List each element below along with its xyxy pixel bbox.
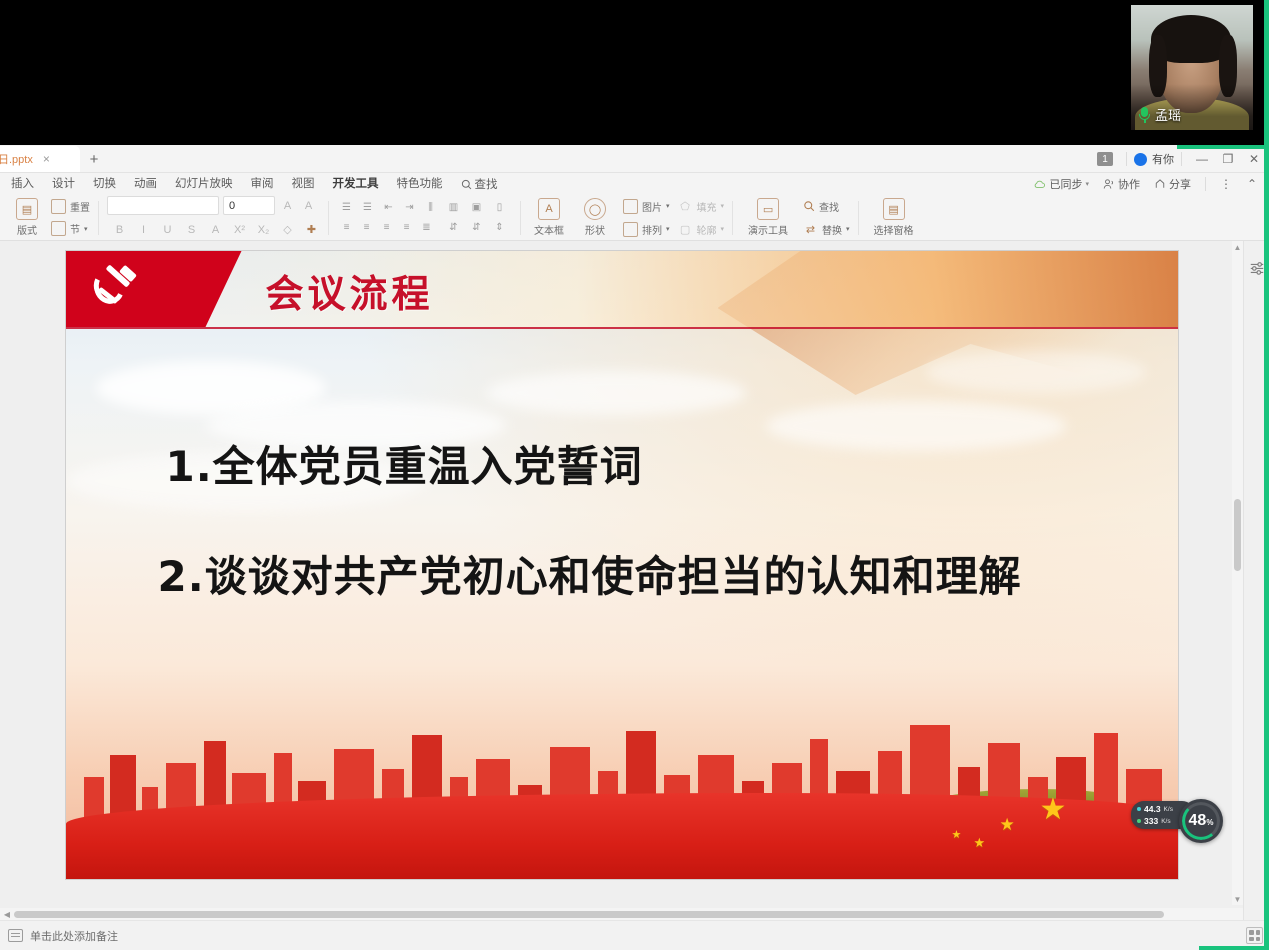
divider [732, 201, 733, 235]
section-icon [51, 221, 66, 236]
fill-button[interactable]: ⬠ 填充 ▾ [678, 196, 725, 216]
star-icon: ★ [1040, 792, 1067, 827]
layout-button[interactable]: ▤ 版式 [7, 198, 47, 237]
slide-bullet-2[interactable]: 2.谈谈对共产党初心和使命担当的认知和理解 [158, 543, 1022, 604]
divider [858, 201, 859, 235]
window-controls-group: 1 有你 — ❐ ✕ [1097, 146, 1269, 172]
notes-placeholder[interactable]: 单击此处添加备注 [30, 928, 118, 944]
menu-tab-animation[interactable]: 动画 [125, 173, 166, 195]
select-pane-icon: ▤ [883, 198, 905, 220]
divider [1205, 177, 1206, 191]
slide-canvas-area[interactable]: 会议流程 1.全体党员重温入党誓词 2.谈谈对共产党初心和使命担当的认知和理解 [0, 241, 1243, 905]
section-button[interactable]: 节 ▾ [51, 219, 90, 239]
ribbon-group-paragraph: ☰ ☰ ⇤ ⇥ ⫼ ≡ ≡ ≡ ≡ ≣ [332, 196, 517, 240]
align-center-icon[interactable]: ≡ [357, 219, 376, 237]
reset-button[interactable]: 重置 [51, 197, 90, 217]
ribbon-tab-bar: 插入 设计 切换 动画 幻灯片放映 审阅 视图 开发工具 特色功能 查找 [0, 173, 1269, 195]
share-label: 分享 [1169, 176, 1191, 192]
upload-indicator-dot [1137, 807, 1141, 811]
download-speed-unit: K/s [1161, 818, 1170, 825]
menu-tab-view[interactable]: 视图 [283, 173, 324, 195]
paragraph-row-2: ≡ ≡ ≡ ≡ ≣ [337, 219, 441, 237]
columns-icon[interactable]: ▥ [444, 199, 463, 217]
more-options-icon[interactable]: ⋮ [1213, 171, 1239, 197]
menu-tab-developer-tools[interactable]: 开发工具 [324, 173, 388, 195]
collapse-ribbon-icon[interactable]: ⌃ [1239, 171, 1265, 197]
slide-skyline-decoration: ★ ★ ★ ★ [66, 719, 1178, 879]
menu-find[interactable]: 查找 [452, 176, 507, 192]
document-tab-title: 日.pptx [0, 151, 33, 167]
document-tab[interactable]: 日.pptx × [0, 146, 80, 172]
find-label: 查找 [819, 199, 839, 214]
replace-icon: ⇄ [803, 222, 818, 237]
picture-icon [623, 199, 638, 214]
menu-tab-review[interactable]: 审阅 [242, 173, 283, 195]
distribute-icon[interactable]: ≣ [417, 219, 436, 237]
increase-indent-icon[interactable]: ⇥ [400, 199, 419, 217]
shape-button[interactable]: ◯ 形状 [575, 198, 615, 237]
menu-tab-transition[interactable]: 切换 [84, 173, 125, 195]
vertical-scrollbar[interactable]: ▲ ▼ [1232, 241, 1243, 905]
replace-label: 替换 [822, 222, 842, 237]
strikethrough-button[interactable]: S [183, 221, 200, 238]
screen-share-border-top [1177, 145, 1269, 149]
ribbon-group-slide: ▤ 版式 重置 节 ▾ [2, 196, 95, 240]
ribbon-group-tools: ▭ 演示工具 查找 ⇄ 替换 ▾ [736, 196, 855, 240]
share-icon [1154, 178, 1166, 190]
scroll-left-arrow[interactable]: ◀ [0, 908, 14, 920]
grid-view-icon[interactable] [1246, 927, 1263, 944]
divider [1181, 152, 1182, 166]
horizontal-scroll-thumb[interactable] [14, 911, 1164, 918]
upload-speed-row: 44.3 K/s [1137, 804, 1173, 814]
convert-smartart-icon[interactable]: ▯ [490, 199, 509, 217]
paragraph-row-1: ☰ ☰ ⇤ ⇥ ⫼ [337, 199, 441, 217]
outline-icon: ▢ [678, 222, 693, 237]
arrange-icon [623, 222, 638, 237]
new-tab-button[interactable]: + [80, 146, 108, 172]
participant-label: 孟瑶 [1139, 105, 1181, 124]
justify-icon[interactable]: ≡ [397, 219, 416, 237]
shape-icon: ◯ [584, 198, 606, 220]
avatar [1134, 153, 1147, 166]
bullet-list-icon[interactable]: ☰ [337, 199, 356, 217]
scroll-down-arrow[interactable]: ▼ [1232, 893, 1243, 905]
divider [98, 201, 99, 235]
search-icon [461, 179, 472, 190]
share-button[interactable]: 分享 [1147, 176, 1198, 192]
fill-label: 填充 [697, 199, 717, 214]
textbox-icon: A [538, 198, 560, 220]
decrease-indent-icon[interactable]: ⇤ [379, 199, 398, 217]
cloud-sync-status[interactable]: 已同步 ▾ [1026, 176, 1096, 192]
reset-icon [51, 199, 66, 214]
cloud-sync-icon [1033, 179, 1046, 190]
layout-label: 版式 [17, 222, 37, 237]
gauge-unit: % [1206, 818, 1213, 827]
notes-icon [8, 929, 23, 942]
document-tab-bar: 日.pptx × + 1 有你 — ❐ ✕ [0, 145, 1269, 173]
menu-tab-slideshow[interactable]: 幻灯片放映 [166, 173, 242, 195]
user-account-chip[interactable]: 有你 [1134, 151, 1174, 167]
self-view-video-tile[interactable]: 孟瑶 [1131, 5, 1253, 130]
slide-bullet-1[interactable]: 1.全体党员重温入党誓词 [166, 433, 643, 494]
textbox-button[interactable]: A 文本框 [529, 198, 569, 237]
ribbon-group-font: 0 A A B I U S A X² X₂ ◇ ✚ [102, 196, 325, 240]
star-icon: ★ [974, 835, 986, 851]
shrink-font-button[interactable]: A [300, 197, 317, 214]
network-speed-widget[interactable]: 44.3 K/s 333 K/s 48% [1131, 801, 1195, 829]
numbered-list-icon[interactable]: ☰ [358, 199, 377, 217]
star-icon: ★ [952, 828, 962, 841]
present-tools-button[interactable]: ▭ 演示工具 [741, 198, 795, 237]
scroll-up-arrow[interactable]: ▲ [1232, 241, 1243, 253]
gauge-value: 48% [1189, 812, 1214, 830]
layout-icon: ▤ [16, 198, 38, 220]
section-label: 节 [70, 221, 80, 236]
participant-name: 孟瑶 [1155, 105, 1181, 124]
subscript-button[interactable]: X₂ [255, 221, 272, 238]
find-button[interactable]: 查找 [803, 196, 850, 216]
divider [328, 201, 329, 235]
horizontal-scrollbar[interactable]: ◀ [0, 908, 1243, 920]
font-size-input[interactable]: 0 [223, 196, 275, 215]
ribbon-group-insert: A 文本框 ◯ 形状 图片 ▾ 排列 ▾ [524, 196, 729, 240]
search-icon [803, 200, 815, 212]
divider [520, 201, 521, 235]
screen: 孟瑶 日.pptx × + 1 有你 — ❐ ✕ [0, 0, 1269, 950]
menu-find-label: 查找 [475, 176, 498, 192]
minimize-button[interactable]: — [1189, 146, 1215, 172]
shape-label: 形状 [585, 222, 605, 237]
align-right-icon[interactable]: ≡ [377, 219, 396, 237]
grow-font-button[interactable]: A [279, 197, 296, 214]
maximize-button[interactable]: ❐ [1215, 146, 1241, 172]
editor-area: 会议流程 1.全体党员重温入党誓词 2.谈谈对共产党初心和使命担当的认知和理解 [0, 241, 1269, 950]
underline-button[interactable]: U [159, 221, 176, 238]
highlight-button[interactable]: ✚ [303, 221, 320, 238]
arrange-label: 排列 [642, 222, 662, 237]
align-text-icon[interactable]: ▣ [467, 199, 486, 217]
fill-icon: ⬠ [678, 199, 693, 214]
select-pane-button[interactable]: ▤ 选择窗格 [867, 198, 921, 237]
slide-surface[interactable]: 会议流程 1.全体党员重温入党誓词 2.谈谈对共产党初心和使命担当的认知和理解 [66, 251, 1178, 879]
present-tools-label: 演示工具 [748, 222, 788, 237]
outline-label: 轮廓 [697, 222, 717, 237]
menu-tab-insert[interactable]: 插入 [2, 173, 43, 195]
clear-format-button[interactable]: ◇ [279, 221, 296, 238]
presentation-tools-icon: ▭ [757, 198, 779, 220]
microphone-icon [1139, 107, 1150, 123]
font-family-input[interactable] [107, 196, 219, 215]
star-icon: ★ [1000, 815, 1015, 835]
collaborate-button[interactable]: 协作 [1096, 176, 1147, 192]
tab-count-badge: 1 [1097, 152, 1113, 166]
line-spacing-icon[interactable]: ⇕ [490, 219, 509, 237]
textbox-label: 文本框 [534, 222, 564, 237]
upload-speed-value: 44.3 [1144, 804, 1161, 814]
upload-speed-unit: K/s [1164, 806, 1173, 813]
cloud-sync-label: 已同步 [1049, 176, 1082, 192]
red-ground [66, 793, 1178, 879]
wps-presentation-window: 日.pptx × + 1 有你 — ❐ ✕ 插入 设计 切换 动画 [0, 145, 1269, 950]
notes-status-bar[interactable]: 单击此处添加备注 [0, 920, 1269, 950]
download-speed-value: 333 [1144, 816, 1158, 826]
picture-label: 图片 [642, 199, 662, 214]
bold-button[interactable]: B [111, 221, 128, 238]
ribbon-right-actions: 已同步 ▾ 协作 分享 [1026, 171, 1269, 197]
ribbon-toolbar: ▤ 版式 重置 节 ▾ [0, 195, 1269, 241]
select-pane-label: 选择窗格 [874, 222, 914, 237]
collaborate-label: 协作 [1118, 176, 1140, 192]
italic-button[interactable]: I [135, 221, 152, 238]
paragraph-row-3: ▥ ▣ ▯ [444, 199, 512, 217]
close-tab-icon[interactable]: × [43, 153, 50, 165]
cpu-usage-gauge[interactable]: 48% [1179, 799, 1223, 843]
user-name: 有你 [1152, 151, 1174, 167]
text-direction-icon[interactable]: ⫼ [421, 199, 440, 217]
arrange-button[interactable]: 排列 ▾ [623, 219, 670, 239]
collaborate-icon [1103, 178, 1115, 190]
paragraph-row-4: ⇵ ⇵ ⇕ [444, 219, 512, 237]
picture-button[interactable]: 图片 ▾ [623, 196, 670, 216]
download-speed-row: 333 K/s [1137, 816, 1173, 826]
reset-label: 重置 [70, 199, 90, 214]
menu-tab-design[interactable]: 设计 [43, 173, 84, 195]
replace-button[interactable]: ⇄ 替换 ▾ [803, 219, 850, 239]
outline-button[interactable]: ▢ 轮廓 ▾ [678, 219, 725, 239]
superscript-button[interactable]: X² [231, 221, 248, 238]
screen-share-border-right [1264, 0, 1269, 950]
screen-share-border-bottom [1199, 946, 1269, 950]
ribbon-group-pane: ▤ 选择窗格 [862, 196, 926, 240]
divider [1126, 152, 1127, 166]
download-indicator-dot [1137, 819, 1141, 823]
decrease-spacing-icon[interactable]: ⇵ [444, 219, 463, 237]
vertical-scroll-thumb[interactable] [1234, 499, 1241, 571]
shared-screen-black-area: 孟瑶 [0, 0, 1269, 145]
sliders-icon [1249, 260, 1265, 276]
increase-spacing-icon[interactable]: ⇵ [467, 219, 486, 237]
align-left-icon[interactable]: ≡ [337, 219, 356, 237]
menu-tab-special-features[interactable]: 特色功能 [388, 173, 452, 195]
font-color-button[interactable]: A [207, 221, 224, 238]
